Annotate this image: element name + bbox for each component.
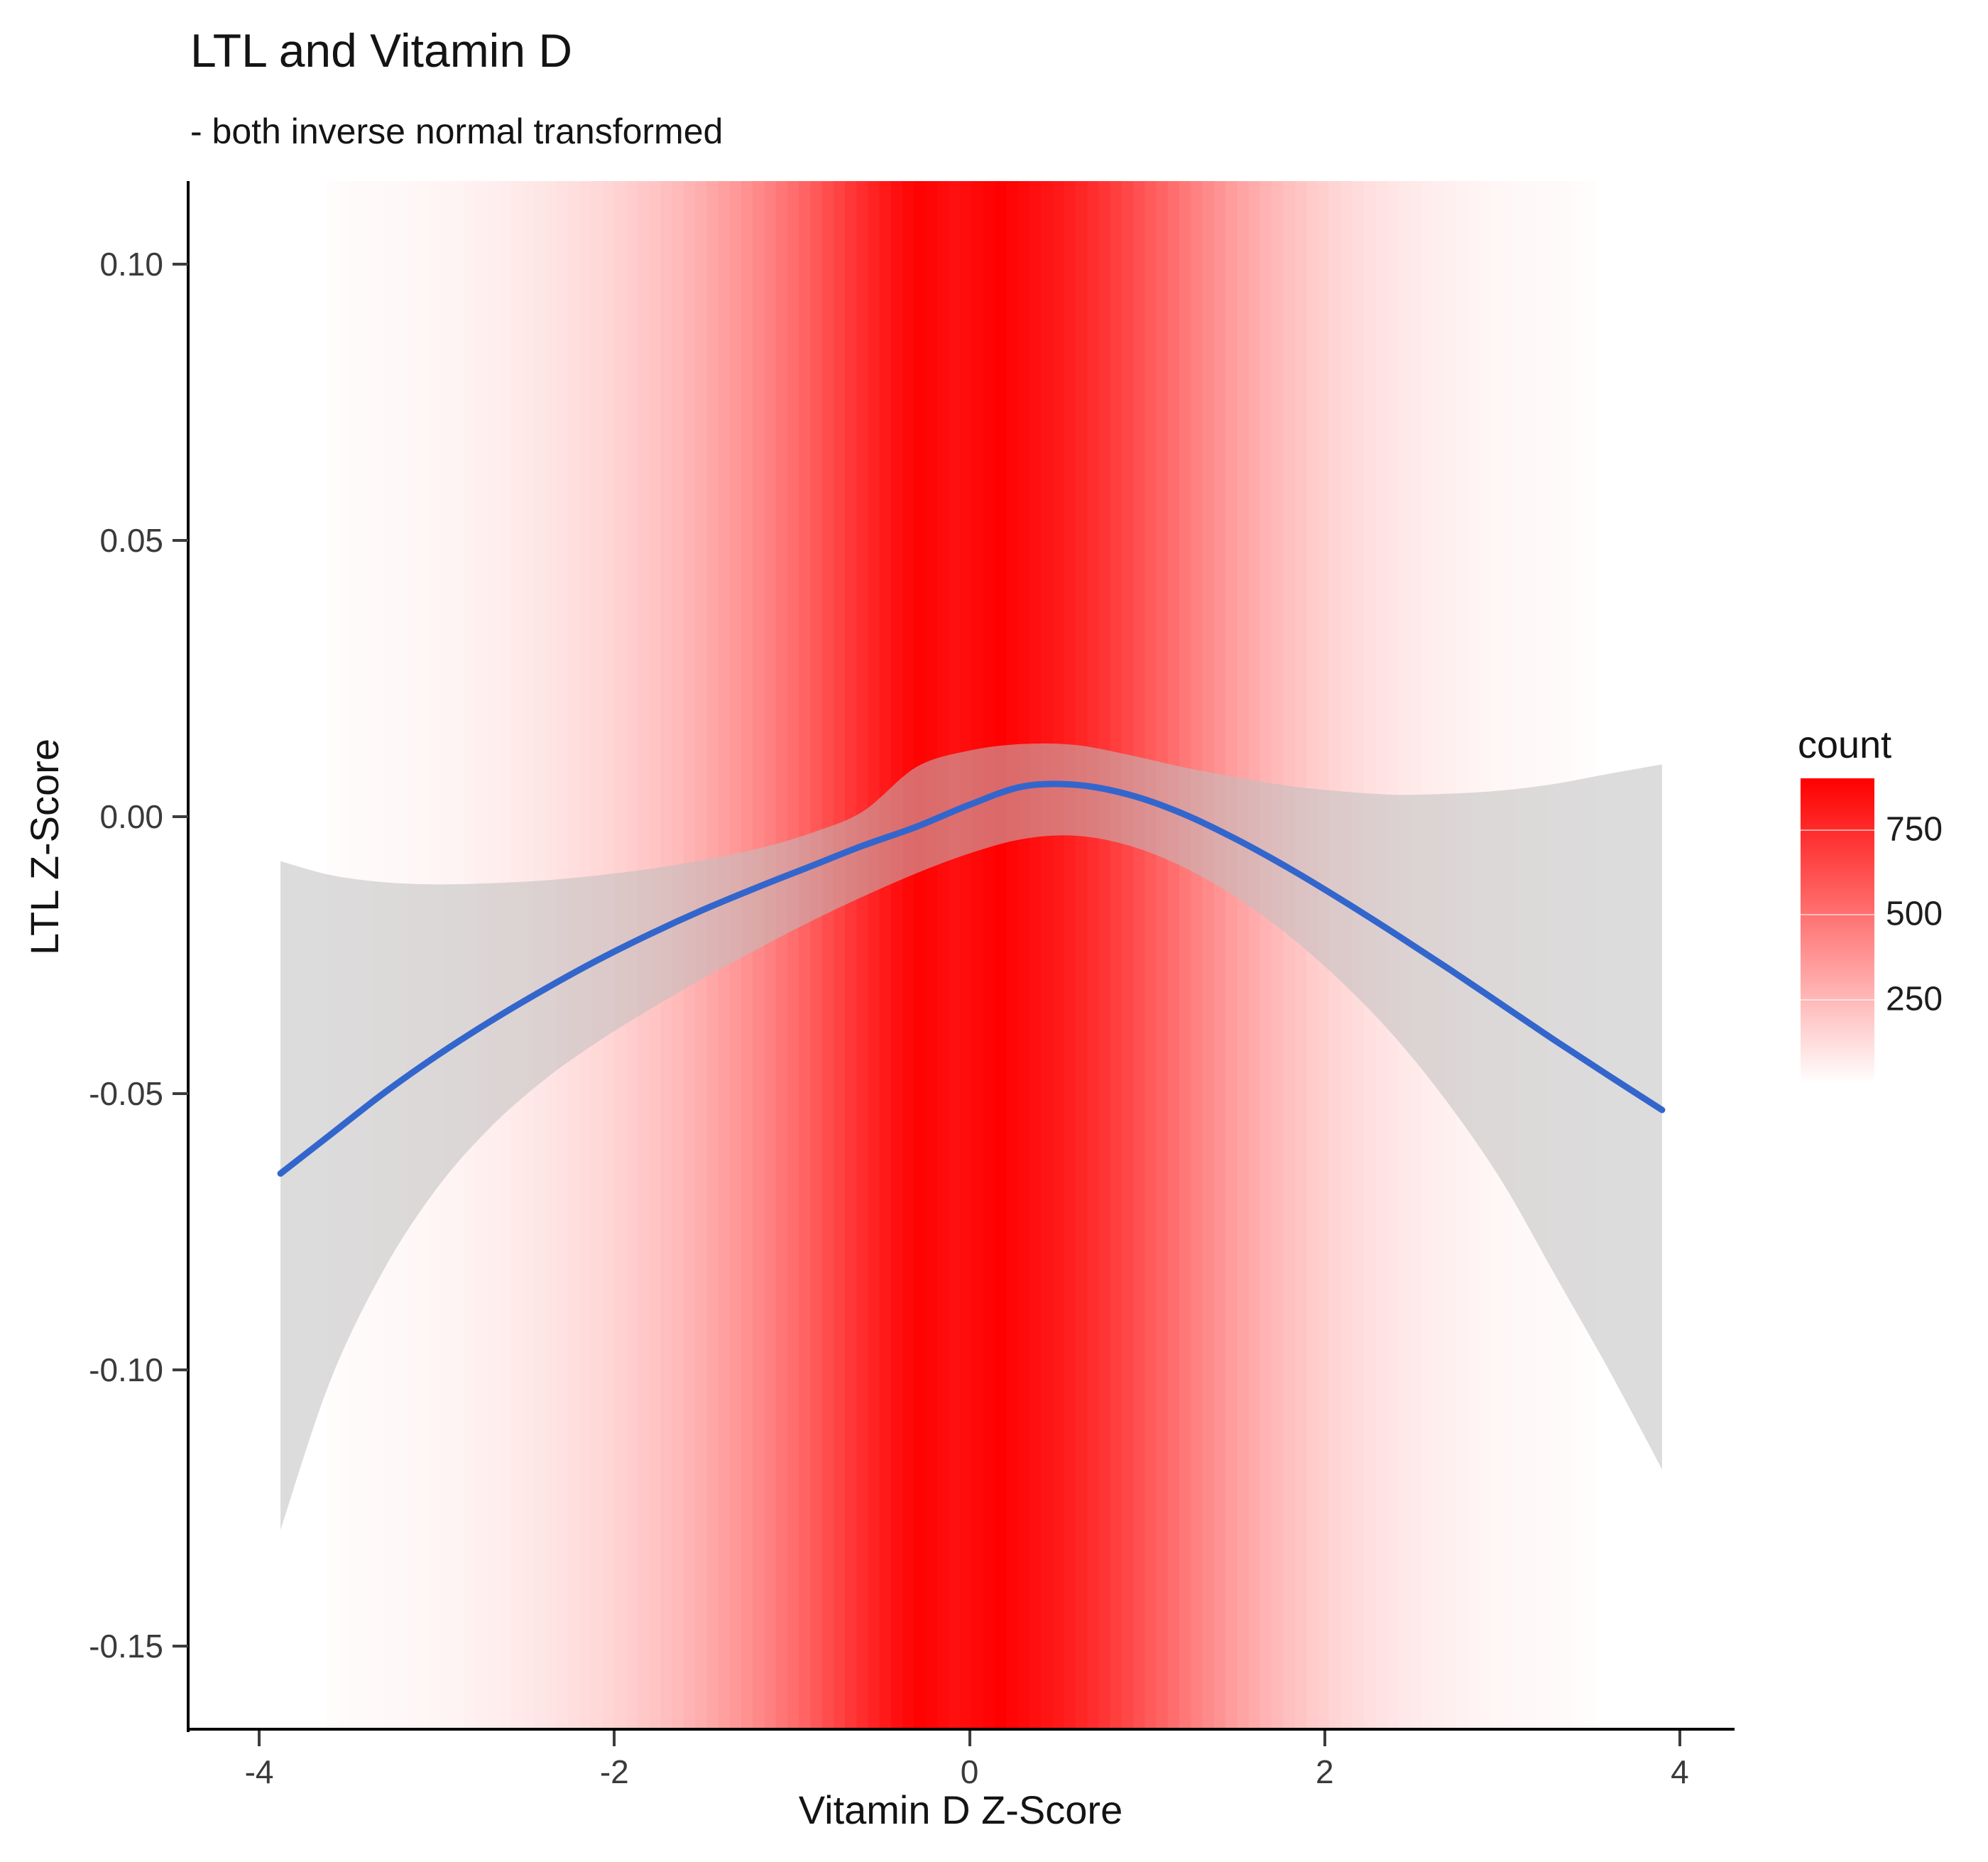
- loess-line: [188, 181, 1733, 1729]
- x-tick-label: 4: [1671, 1753, 1689, 1791]
- y-tick-label: 0.05: [99, 521, 163, 560]
- chart-subtitle: - both inverse normal transformed: [190, 114, 723, 149]
- y-tick-mark: [173, 263, 188, 266]
- y-tick-mark: [173, 1368, 188, 1371]
- y-tick-label: 0.00: [99, 797, 163, 836]
- y-tick-label: -0.05: [89, 1074, 163, 1113]
- x-tick-mark: [613, 1731, 616, 1746]
- chart-title: LTL and Vitamin D: [190, 27, 572, 74]
- legend-tick-mark: [1801, 999, 1874, 1001]
- legend-tick-mark: [1801, 914, 1874, 915]
- plot-panel: [188, 181, 1733, 1729]
- x-tick-mark: [968, 1731, 971, 1746]
- x-tick-mark: [1678, 1731, 1681, 1746]
- y-tick-label: -0.10: [89, 1351, 163, 1389]
- x-tick-mark: [258, 1731, 261, 1746]
- y-tick-mark: [173, 1092, 188, 1095]
- x-axis-title: Vitamin D Z-Score: [799, 1787, 1123, 1833]
- y-tick-mark: [173, 1645, 188, 1648]
- chart-figure: LTL and Vitamin D - both inverse normal …: [0, 0, 1988, 1862]
- y-tick-mark: [173, 815, 188, 818]
- legend-title: count: [1798, 723, 1891, 767]
- y-tick-label: 0.10: [99, 245, 163, 283]
- y-axis-line: [187, 181, 190, 1732]
- legend-tick-label: 750: [1886, 810, 1943, 849]
- y-tick-mark: [173, 539, 188, 542]
- legend-tick-label: 250: [1886, 979, 1943, 1018]
- x-tick-label: -2: [600, 1753, 629, 1791]
- x-tick-label: 2: [1316, 1753, 1334, 1791]
- x-tick-label: 0: [961, 1753, 979, 1791]
- y-tick-label: -0.15: [89, 1627, 163, 1665]
- legend-tick-label: 500: [1886, 895, 1943, 934]
- y-axis-title: LTL Z-Score: [21, 739, 67, 955]
- legend-tick-mark: [1801, 829, 1874, 831]
- x-tick-mark: [1323, 1731, 1326, 1746]
- x-axis-line: [187, 1728, 1735, 1731]
- x-tick-label: -4: [245, 1753, 274, 1791]
- legend-colorbar: [1801, 778, 1874, 1084]
